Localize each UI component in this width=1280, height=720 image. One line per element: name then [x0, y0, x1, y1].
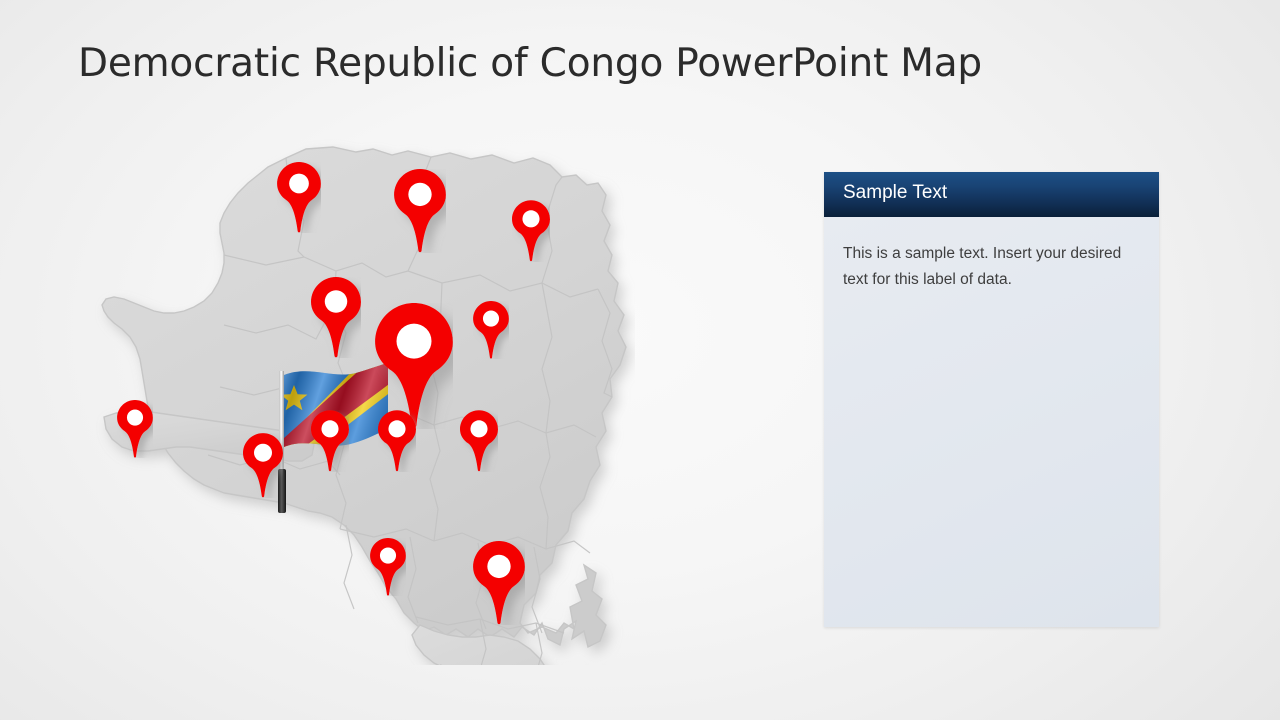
map-marker-pin[interactable] — [460, 410, 498, 472]
panel-header: Sample Text — [824, 172, 1159, 217]
map-marker-pin[interactable] — [394, 169, 446, 253]
map-marker-pin[interactable] — [378, 410, 416, 472]
map-marker-pin[interactable] — [277, 162, 321, 233]
map-marker-pin[interactable] — [473, 301, 509, 359]
map-marker-pin[interactable] — [512, 200, 550, 262]
panel-body-text: This is a sample text. Insert your desir… — [843, 241, 1126, 293]
map-marker-pin[interactable] — [243, 433, 283, 498]
panel-header-title: Sample Text — [843, 182, 947, 204]
panel-body[interactable]: This is a sample text. Insert your desir… — [824, 217, 1159, 627]
slide-canvas: Democratic Republic of Congo PowerPoint … — [0, 0, 1280, 720]
map-marker-pin[interactable] — [311, 277, 361, 358]
map-marker-pin[interactable] — [370, 538, 406, 596]
page-title: Democratic Republic of Congo PowerPoint … — [78, 41, 982, 86]
map-container[interactable] — [90, 125, 635, 665]
map-marker-pin[interactable] — [473, 541, 525, 625]
map-marker-pin[interactable] — [117, 400, 153, 458]
map-marker-pin[interactable] — [311, 410, 349, 472]
sample-text-panel[interactable]: Sample Text This is a sample text. Inser… — [824, 172, 1159, 627]
